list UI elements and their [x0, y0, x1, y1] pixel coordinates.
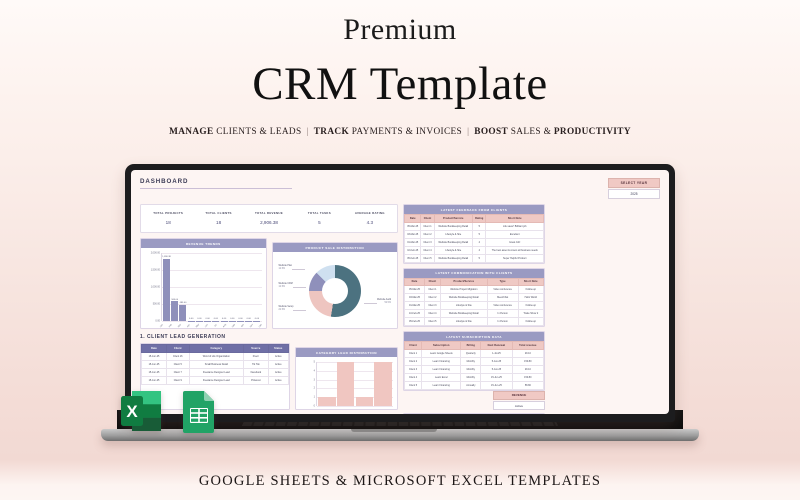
table-cell: 29.10 [512, 349, 543, 357]
revenue-badge-label: REVENUE [493, 391, 545, 400]
table-cell: Learn Financing [422, 381, 461, 389]
kpi-value: 2,906.38 [244, 220, 294, 225]
latest-subscription-table[interactable]: ClientSubscriptionBillingNext RenewalTot… [404, 341, 544, 390]
table-cell: 15-Jun-25 [481, 373, 512, 381]
table-cell: In Person [487, 310, 518, 318]
category-lead-chart: 012345 [296, 357, 397, 409]
table-cell: Active [268, 352, 288, 360]
table-cell: Small Business Detail [189, 360, 244, 368]
column-header: Total revenue [512, 342, 543, 350]
table-cell: 10-Feb-25 [405, 246, 421, 254]
laptop-lid: DASHBOARD SELECT YEAR 2025 TOTAL PROJECT… [125, 164, 675, 422]
y-tick-label: 2,000.00 [151, 252, 160, 255]
column-header: Type [487, 278, 518, 286]
table-row[interactable]: 10-Feb-25Client 4Website Bookkeeping Ret… [405, 310, 544, 318]
select-year-label: SELECT YEAR [608, 178, 660, 188]
crm-dashboard: DASHBOARD SELECT YEAR 2025 TOTAL PROJECT… [131, 170, 669, 414]
table-row[interactable]: 05-Feb-25Client 5Lifestyle & SiteIn Pers… [405, 318, 544, 326]
table-cell: Lifestyle & Site [434, 230, 473, 238]
table-cell: Website Project Migration [440, 286, 487, 294]
table-cell: 5 [473, 222, 486, 230]
header-tagline: MANAGE CLIENTS & LEADS|TRACK PAYMENTS & … [0, 127, 800, 137]
table-cell: 03-Mar-25 [405, 230, 421, 238]
kpi-average-rating: AVERAGE RATING 4.3 [345, 211, 395, 225]
table-header-row: DateClientProduct/ServiceRatingShort Not… [405, 215, 544, 223]
table-cell: Client 5 [421, 254, 434, 262]
y-tick-label: 1 [314, 396, 315, 399]
table-row[interactable]: Client 1Learn Google SheetsQuarterly1-Ju… [405, 349, 544, 357]
table-row[interactable]: 03-Mar-25Client 2Lifestyle & Site5Excell… [405, 230, 544, 238]
table-cell: Client 1 [425, 286, 441, 294]
header-eyebrow: Premium [0, 14, 800, 46]
revenue-plot: 1,836.38585.00485.000.000.000.000.000.00… [161, 253, 262, 321]
kpi-total-clients: TOTAL CLIENTS 18 [193, 211, 243, 225]
google-sheets-icon [177, 388, 221, 434]
table-cell: Client 1 [405, 349, 422, 357]
kpi-value: 4.3 [345, 220, 395, 225]
tagline-separator-2: | [462, 127, 474, 137]
table-cell: Website Bookkeeping Retail [434, 222, 473, 230]
y-tick-label: 0 [314, 405, 315, 408]
product-sale-chart: Website Plan12.5% Website CRM12.5% Websi… [273, 252, 398, 328]
bar-value-label: 0.00 [205, 318, 209, 320]
table-cell: 15-Jun-25 [142, 368, 167, 376]
bar [356, 397, 374, 406]
select-year-value[interactable]: 2025 [608, 189, 660, 199]
table-cell: Lifestyle & Site [440, 318, 487, 326]
revenue-x-axis: JanFebMarAprMayJunJulAugSepOctNovDec [157, 325, 266, 327]
latest-communication-card: LATEST COMMUNICATION WITH CLIENTS DateCl… [403, 268, 545, 328]
table-cell: Monthly [461, 373, 481, 381]
table-header-row: ClientSubscriptionBillingNext RenewalTot… [405, 342, 544, 350]
revenue-trends-chart: 0.00500.001,000.001,500.002,000.00 1,836… [141, 248, 266, 324]
table-cell: Client 5 [166, 360, 189, 368]
kpi-value: 18 [143, 220, 193, 225]
column-header: Rating [473, 215, 486, 223]
donut-label-3: Website Audit52.5% [377, 299, 391, 306]
category-plot [316, 362, 393, 406]
page-title: CRM Template [0, 60, 800, 109]
table-cell: The best asset & covers all business nee… [486, 246, 544, 254]
column-header: Product/Service [434, 215, 473, 223]
table-cell: 01-Mar-25 [405, 238, 421, 246]
table-cell: Client 4 [421, 246, 434, 254]
column-header: Date [405, 215, 421, 223]
table-cell: Quarterly [461, 349, 481, 357]
y-tick-label: 1,000.00 [151, 286, 160, 289]
dashboard-right-column: LATEST FEEDBACK FROM CLIENTS DateClientP… [403, 204, 545, 414]
table-row[interactable]: 05-Mar-25Client 1Website Project Migrati… [405, 286, 544, 294]
table-cell: Client 7 [166, 368, 189, 376]
y-tick-label: 3 [314, 378, 315, 381]
table-cell: Client 2 [421, 230, 434, 238]
table-cell: Website Bookkeeping Retail [440, 294, 487, 302]
latest-subscription-card: LATEST SUBSCRIPTION DATA ClientSubscript… [403, 331, 545, 391]
table-cell: Client 16 [166, 352, 189, 360]
y-tick-label: 0.00 [155, 320, 160, 323]
table-cell: Client 2 [425, 294, 441, 302]
table-cell: Active [268, 376, 288, 384]
table-cell: Monthly [461, 357, 481, 365]
table-cell: Pinterest [244, 376, 268, 384]
x-tick-label: Sep [230, 322, 236, 329]
table-cell: 5 [473, 254, 486, 262]
dashboard-left-column: TOTAL PROJECTS 18 TOTAL CLIENTS 18 TOTAL… [140, 204, 398, 414]
product-sale-distribution-card: PRODUCT SALE DISTRIBUTION Website Plan12… [272, 242, 399, 329]
x-tick-label: Jan [159, 322, 165, 329]
table-cell: Annually [461, 381, 481, 389]
column-header: Date [405, 278, 425, 286]
table-header-row: DateClientProduct/ServiceTypeShort Note [405, 278, 544, 286]
table-row[interactable]: 01-Mar-25Client 3Lifestyle & SiteVideo c… [405, 302, 544, 310]
table-cell: Follow-up [518, 286, 543, 294]
kpi-strip: TOTAL PROJECTS 18 TOTAL CLIENTS 18 TOTAL… [140, 204, 398, 233]
bar-value-label: 0.00 [255, 318, 259, 320]
table-cell: Freelance Designer Lead [189, 376, 244, 384]
latest-feedback-header: LATEST FEEDBACK FROM CLIENTS [404, 205, 544, 214]
dashboard-topbar: DASHBOARD SELECT YEAR 2025 [140, 178, 660, 199]
column-header: Date [142, 345, 167, 353]
section2-title: 1. CLIENT LEAD GENERATION [140, 334, 398, 340]
select-year-dropdown[interactable]: SELECT YEAR 2025 [608, 178, 660, 199]
donut-label-0: Website Plan12.5% [279, 265, 293, 272]
latest-feedback-card: LATEST FEEDBACK FROM CLIENTS DateClientP… [403, 204, 545, 264]
table-cell: 15-Jun-25 [142, 360, 167, 368]
table-cell: 1-Jul-25 [481, 349, 512, 357]
donut-label-2: Website Setup22.5% [279, 306, 294, 313]
bar [318, 397, 336, 406]
bar-value-label: 0.00 [230, 318, 234, 320]
table-cell: 10-Feb-25 [405, 310, 425, 318]
dashboard-title: DASHBOARD [140, 178, 292, 189]
bar: 485.00 [179, 305, 186, 321]
table-cell: Tik Tok [244, 360, 268, 368]
table-cell: Website Bookkeeping Retail [440, 310, 487, 318]
table-cell: 15-Jun-25 [142, 376, 167, 384]
table-cell: 15-Jun-25 [481, 381, 512, 389]
column-header: Client [166, 345, 189, 353]
table-row[interactable]: 15-Jun-25Client 5Small Business DetailTi… [142, 360, 289, 368]
table-cell: Client 1 [421, 222, 434, 230]
category-lead-header: CATEGORY LEAD DISTRIBUTION [296, 348, 397, 357]
x-tick-label: Jun [204, 322, 210, 329]
table-cell: 05-Feb-25 [405, 318, 425, 326]
table-cell: Learn Excel [422, 373, 461, 381]
kpi-label: AVERAGE RATING [345, 211, 395, 215]
table-row[interactable]: Client 2Learn FinancingMonthly5-Jun-2515… [405, 357, 544, 365]
latest-communication-table[interactable]: DateClientProduct/ServiceTypeShort Note0… [404, 278, 544, 327]
column-header: Source [244, 345, 268, 353]
kpi-total-projects: TOTAL PROJECTS 18 [143, 211, 193, 225]
table-cell: Freelance Designer Lead [189, 368, 244, 376]
table-row[interactable]: 01-Mar-25Client 3Website Bookkeeping Ret… [405, 238, 544, 246]
table-cell: Lifestyle & Site [440, 302, 487, 310]
table-cell: Website Bookkeeping Retail [434, 254, 473, 262]
x-tick-label: Nov [248, 322, 254, 329]
y-tick-label: 4 [314, 369, 315, 372]
table-cell: Meet/Chat [487, 294, 518, 302]
table-cell: Client 5 [405, 381, 422, 389]
revenue-badge-value[interactable]: Active [493, 401, 545, 410]
client-lead-generation-table[interactable]: DateClientCategorySourceStatus15-Jun-25C… [141, 344, 289, 385]
column-header: Category [189, 345, 244, 353]
category-bars [317, 362, 393, 406]
x-tick-label: Feb [168, 322, 174, 329]
lead-status-distribution-card: LEAD STATUS DISTRIBUTION Converted66.7% [403, 413, 545, 414]
table-cell: Super Helpful Product [486, 254, 544, 262]
bar-value-label: 0.00 [214, 318, 218, 320]
bar: 585.00 [171, 301, 178, 321]
bar-value-label: 1,836.38 [162, 256, 171, 258]
bar-value-label: 0.00 [238, 318, 242, 320]
table-row[interactable]: 15-Jun-25Client 16Word of Life Organizat… [142, 352, 289, 360]
revenue-badge[interactable]: REVENUE Active [493, 391, 545, 410]
column-header: Product/Service [440, 278, 487, 286]
table-row[interactable]: 10-Feb-25Client 4Lifestyle & Site4The be… [405, 246, 544, 254]
table-cell: Learn Financing [422, 357, 461, 365]
revenue-trends-card: REVENUE TRENDS 0.00500.001,000.001,500.0… [140, 238, 267, 329]
table-cell: Active [268, 368, 288, 376]
table-cell: Life saver! Brilliant job [486, 222, 544, 230]
product-sale-donut [309, 265, 361, 317]
table-cell: 58.80 [512, 381, 543, 389]
table-cell: Monthly [461, 365, 481, 373]
donut-label-1: Website CRM12.5% [279, 283, 293, 290]
table-cell: Hello World [518, 294, 543, 302]
tagline-boost-rest: SALES & [508, 127, 554, 137]
table-cell: Client 3 [405, 365, 422, 373]
table-cell: 03-Mar-25 [405, 294, 425, 302]
y-tick-label: 500.00 [153, 303, 160, 306]
table-cell: Client 4 [405, 373, 422, 381]
svg-text:X: X [126, 402, 138, 421]
microsoft-excel-icon: X [119, 388, 163, 434]
x-tick-label: Mar [177, 322, 183, 329]
tagline-productivity-bold: PRODUCTIVITY [554, 127, 631, 137]
bar [374, 362, 392, 406]
table-cell: Active [268, 360, 288, 368]
x-tick-label: Oct [239, 322, 245, 329]
product-sale-header: PRODUCT SALE DISTRIBUTION [273, 243, 398, 252]
tagline-separator-1: | [302, 127, 314, 137]
footer-text: GOOGLE SHEETS & MICROSOFT EXCEL TEMPLATE… [0, 473, 800, 490]
column-header: Client [405, 342, 422, 350]
table-cell: Client 5 [425, 318, 441, 326]
table-cell: In Person [487, 318, 518, 326]
table-cell: Client 3 [421, 238, 434, 246]
table-cell: Video conference [487, 286, 518, 294]
y-tick-label: 1,500.00 [151, 269, 160, 272]
table-cell: Word of Life Organization [189, 352, 244, 360]
x-tick-label: Apr [186, 322, 192, 329]
app-icons: X [119, 388, 221, 434]
table-cell: 4 [473, 238, 486, 246]
table-cell: 15-Jun-25 [142, 352, 167, 360]
table-cell: 150.80 [512, 357, 543, 365]
category-lead-distribution-card: CATEGORY LEAD DISTRIBUTION 012345 [295, 347, 398, 410]
column-header: Short Note [486, 215, 544, 223]
table-cell: Client 3 [425, 302, 441, 310]
revenue-bars: 1,836.38585.00485.000.000.000.000.000.00… [162, 253, 262, 321]
table-row[interactable]: 15-Jun-25Client 9Freelance Designer Lead… [142, 376, 289, 384]
table-cell: 150.80 [512, 373, 543, 381]
table-cell: 29.10 [512, 365, 543, 373]
table-cell: Trade Show 2 [518, 310, 543, 318]
bar: 1,836.38 [163, 259, 170, 321]
x-tick-label: May [195, 322, 201, 329]
table-row[interactable]: 05-Feb-25Client 5Website Bookkeeping Ret… [405, 254, 544, 262]
table-cell: Client 2 [405, 357, 422, 365]
table-row[interactable]: Client 4Learn ExcelMonthly15-Jun-25150.8… [405, 373, 544, 381]
tagline-boost-bold: BOOST [474, 127, 508, 137]
bar-value-label: 0.00 [197, 318, 201, 320]
table-cell: 05-Feb-25 [405, 254, 421, 262]
table-cell: Website Bookkeeping Retail [434, 238, 473, 246]
column-header: Status [268, 345, 288, 353]
tagline-track-bold: TRACK [314, 127, 349, 137]
table-cell: Great Job! [486, 238, 544, 246]
table-row[interactable]: 05-Mar-25Client 1Website Bookkeeping Ret… [405, 222, 544, 230]
table-cell: 05-Mar-25 [405, 286, 425, 294]
table-cell: 5 [473, 230, 486, 238]
kpi-label: TOTAL REVENUE [244, 211, 294, 215]
table-row[interactable]: 15-Jun-25Client 7Freelance Designer Lead… [142, 368, 289, 376]
latest-communication-header: LATEST COMMUNICATION WITH CLIENTS [404, 269, 544, 278]
table-cell: 05-Mar-25 [405, 222, 421, 230]
table-cell: Follow-up [518, 302, 543, 310]
bar-value-label: 0.00 [189, 318, 193, 320]
table-cell: Facebook [244, 368, 268, 376]
table-cell: Excellent [486, 230, 544, 238]
column-header: Billing [461, 342, 481, 350]
table-row[interactable]: 03-Mar-25Client 2Website Bookkeeping Ret… [405, 294, 544, 302]
column-header: Next Renewal [481, 342, 512, 350]
latest-subscription-header: LATEST SUBSCRIPTION DATA [404, 332, 544, 341]
bar-value-label: 585.00 [171, 299, 178, 301]
revenue-trends-header: REVENUE TRENDS [141, 239, 266, 248]
table-cell: 5-Jun-25 [481, 357, 512, 365]
kpi-label: TOTAL PROJECTS [143, 211, 193, 215]
y-tick-label: 5 [314, 361, 315, 364]
tagline-track-rest: PAYMENTS & INVOICES [349, 127, 462, 137]
bar [337, 362, 355, 406]
laptop-screen: DASHBOARD SELECT YEAR 2025 TOTAL PROJECT… [131, 170, 669, 414]
column-header: Short Note [518, 278, 543, 286]
table-cell: Client 4 [425, 310, 441, 318]
table-cell: 4 [473, 246, 486, 254]
tagline-manage-rest: CLIENTS & LEADS [214, 127, 302, 137]
tagline-manage-bold: MANAGE [169, 127, 213, 137]
kpi-total-tasks: TOTAL TASKS 5 [294, 211, 344, 225]
table-cell: Video conference [487, 302, 518, 310]
column-header: Client [425, 278, 441, 286]
table-cell: Lifestyle & Site [434, 246, 473, 254]
bar-value-label: 485.00 [180, 302, 187, 304]
page-header: Premium CRM Template MANAGE CLIENTS & LE… [0, 0, 800, 137]
table-cell: Learn Google Sheets [422, 349, 461, 357]
charts-row: REVENUE TRENDS 0.00500.001,000.001,500.0… [140, 238, 398, 329]
table-cell: 01-Mar-25 [405, 302, 425, 310]
kpi-label: TOTAL CLIENTS [193, 211, 243, 215]
column-header: Client [421, 215, 434, 223]
table-cell: Learn Financing [422, 365, 461, 373]
table-row[interactable]: Client 3Learn FinancingMonthly5-Jun-2529… [405, 365, 544, 373]
kpi-total-revenue: TOTAL REVENUE 2,906.38 [244, 211, 294, 225]
table-row[interactable]: Client 5Learn FinancingAnnually15-Jun-25… [405, 381, 544, 389]
kpi-value: 18 [193, 220, 243, 225]
dashboard-columns: TOTAL PROJECTS 18 TOTAL CLIENTS 18 TOTAL… [140, 204, 660, 414]
bar-value-label: 0.00 [222, 318, 226, 320]
table-cell: Fiverr [244, 352, 268, 360]
kpi-value: 5 [294, 220, 344, 225]
x-tick-label: Dec [257, 322, 263, 329]
category-y-axis: 012345 [300, 362, 316, 406]
x-tick-label: Jul [213, 322, 219, 329]
y-tick-label: 2 [314, 387, 315, 390]
x-tick-label: Aug [221, 322, 227, 329]
bar-value-label: 0.00 [247, 318, 251, 320]
revenue-y-axis: 0.00500.001,000.001,500.002,000.00 [145, 253, 161, 321]
table-cell: Client 9 [166, 376, 189, 384]
kpi-label: TOTAL TASKS [294, 211, 344, 215]
table-cell: Follow-up [518, 318, 543, 326]
column-header: Subscription [422, 342, 461, 350]
table-header-row: DateClientCategorySourceStatus [142, 345, 289, 353]
latest-feedback-table[interactable]: DateClientProduct/ServiceRatingShort Not… [404, 214, 544, 263]
table-cell: 5-Jun-25 [481, 365, 512, 373]
